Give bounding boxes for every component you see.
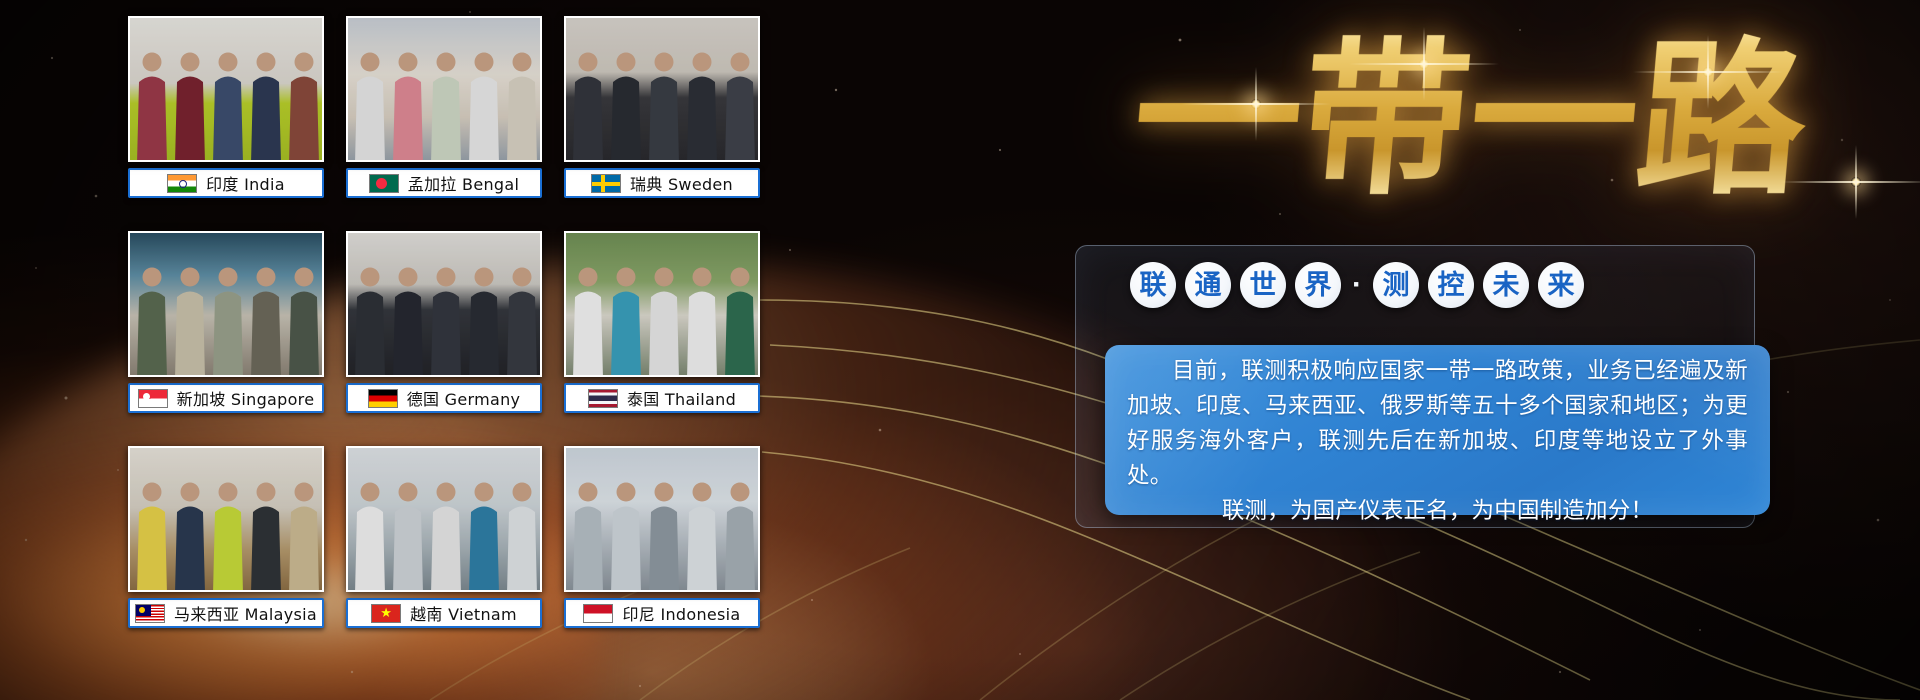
gallery-cell[interactable]: 德国 Germany	[346, 231, 542, 416]
banner-root: 一带一路 联 通 世 界 · 测 控 未 来 目前，联测积极响应国家一带一路政策…	[0, 0, 1920, 700]
country-label-text: 印度 India	[206, 171, 285, 195]
malaysia-team-photo[interactable]	[128, 446, 324, 592]
bengal-team-photo[interactable]	[346, 16, 542, 162]
slogan-char-7: 未	[1483, 262, 1529, 308]
slogan-char-2: 通	[1185, 262, 1231, 308]
country-label[interactable]: 新加坡 Singapore	[128, 383, 324, 413]
photo-figures	[566, 233, 760, 377]
gallery-cell[interactable]: 印尼 Indonesia	[564, 446, 760, 631]
country-label[interactable]: 德国 Germany	[346, 383, 542, 413]
country-label-text: 印尼 Indonesia	[622, 601, 740, 625]
country-label-text: 泰国 Thailand	[627, 386, 736, 410]
country-label[interactable]: 马来西亚 Malaysia	[128, 598, 324, 628]
slogan-row: 联 通 世 界 · 测 控 未 来	[1130, 262, 1584, 308]
flag-singapore-icon	[138, 389, 168, 408]
gallery-cell[interactable]: 新加坡 Singapore	[128, 231, 324, 416]
sweden-team-photo[interactable]	[564, 16, 760, 162]
photo-figures	[130, 233, 324, 377]
belt-and-road-calligraphy: 一带一路	[1020, 8, 1920, 230]
photo-figures	[348, 18, 542, 162]
flag-vietnam-icon	[371, 604, 401, 623]
slogan-char-1: 联	[1130, 262, 1176, 308]
country-label-text: 新加坡 Singapore	[177, 386, 315, 410]
country-label-text: 马来西亚 Malaysia	[174, 601, 317, 625]
gallery-cell[interactable]: 泰国 Thailand	[564, 231, 760, 416]
calligraphy-text: 一带一路	[1010, 8, 1920, 230]
country-label[interactable]: 孟加拉 Bengal	[346, 168, 542, 198]
india-team-photo[interactable]	[128, 16, 324, 162]
germany-team-photo[interactable]	[346, 231, 542, 377]
country-label-text: 越南 Vietnam	[410, 601, 517, 625]
gallery-cell[interactable]: 越南 Vietnam	[346, 446, 542, 631]
slogan-separator-dot: ·	[1350, 270, 1364, 300]
gallery-cell[interactable]: 印度 India	[128, 16, 324, 201]
country-label[interactable]: 泰国 Thailand	[564, 383, 760, 413]
flag-germany-icon	[368, 389, 398, 408]
country-label-text: 孟加拉 Bengal	[408, 171, 519, 195]
slogan-char-6: 控	[1428, 262, 1474, 308]
country-label[interactable]: 印尼 Indonesia	[564, 598, 760, 628]
flag-malaysia-icon	[135, 604, 165, 623]
gallery-cell[interactable]: 马来西亚 Malaysia	[128, 446, 324, 631]
country-label-text: 瑞典 Sweden	[630, 171, 733, 195]
country-label-text: 德国 Germany	[407, 386, 521, 410]
description-panel: 目前，联测积极响应国家一带一路政策，业务已经遍及新加坡、印度、马来西亚、俄罗斯等…	[1105, 345, 1770, 515]
photo-figures	[348, 233, 542, 377]
photo-figures	[566, 18, 760, 162]
photo-figures	[130, 448, 324, 592]
gallery-cell[interactable]: 孟加拉 Bengal	[346, 16, 542, 201]
flag-sweden-icon	[591, 174, 621, 193]
gallery-cell[interactable]: 瑞典 Sweden	[564, 16, 760, 201]
indonesia-team-photo[interactable]	[564, 446, 760, 592]
country-label[interactable]: 印度 India	[128, 168, 324, 198]
slogan-char-5: 测	[1373, 262, 1419, 308]
country-photo-grid: 印度 India孟加拉 Bengal瑞典 Sweden新加坡 Singapore…	[128, 16, 760, 631]
flag-india-icon	[167, 174, 197, 193]
thailand-team-photo[interactable]	[564, 231, 760, 377]
flag-thailand-icon	[588, 389, 618, 408]
slogan-char-8: 来	[1538, 262, 1584, 308]
photo-figures	[348, 448, 542, 592]
photo-figures	[130, 18, 324, 162]
country-label[interactable]: 越南 Vietnam	[346, 598, 542, 628]
slogan-char-4: 界	[1295, 262, 1341, 308]
flag-bangladesh-icon	[369, 174, 399, 193]
description-paragraph-2: 联测，为国产仪表正名，为中国制造加分！	[1127, 494, 1748, 529]
singapore-team-photo[interactable]	[128, 231, 324, 377]
country-label[interactable]: 瑞典 Sweden	[564, 168, 760, 198]
flag-indonesia-icon	[583, 604, 613, 623]
slogan-char-3: 世	[1240, 262, 1286, 308]
vietnam-team-photo[interactable]	[346, 446, 542, 592]
description-paragraph-1: 目前，联测积极响应国家一带一路政策，业务已经遍及新加坡、印度、马来西亚、俄罗斯等…	[1127, 354, 1748, 494]
photo-figures	[566, 448, 760, 592]
